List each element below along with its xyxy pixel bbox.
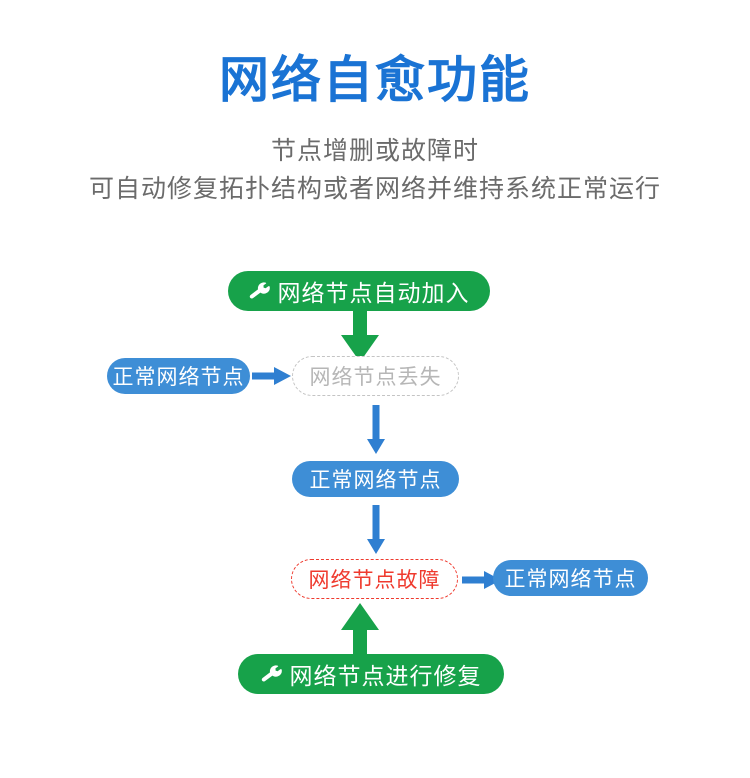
node-network-node-auto-join[interactable]: 网络节点自动加入 — [228, 271, 490, 311]
node-network-node-repair[interactable]: 网络节点进行修复 — [238, 654, 504, 694]
wrench-icon — [249, 280, 271, 302]
subtitle-line-2: 可自动修复拓扑结构或者网络并维持系统正常运行 — [0, 170, 750, 209]
node-label: 网络节点进行修复 — [290, 657, 482, 691]
page-title: 网络自愈功能 — [0, 52, 750, 110]
node-normal-network-node-left[interactable]: 正常网络节点 — [107, 358, 250, 394]
node-label: 网络节点自动加入 — [278, 274, 470, 308]
green-arrow-up — [340, 602, 380, 658]
subtitle-line-1: 节点增删或故障时 — [0, 132, 750, 171]
node-label: 网络节点故障 — [309, 564, 441, 594]
node-normal-network-node-middle[interactable]: 正常网络节点 — [292, 461, 459, 497]
node-label: 正常网络节点 — [113, 361, 245, 391]
node-label: 网络节点丢失 — [310, 361, 442, 391]
node-network-node-lost[interactable]: 网络节点丢失 — [292, 356, 459, 396]
node-normal-network-node-right[interactable]: 正常网络节点 — [493, 560, 648, 596]
blue-arrow-right-top — [252, 367, 292, 385]
node-label: 正常网络节点 — [505, 563, 637, 593]
node-network-node-fault[interactable]: 网络节点故障 — [291, 559, 458, 599]
page-header: 网络自愈功能 节点增删或故障时 可自动修复拓扑结构或者网络并维持系统正常运行 — [0, 0, 750, 209]
blue-arrow-down-lower — [366, 505, 386, 555]
node-label: 正常网络节点 — [310, 464, 442, 494]
network-self-healing-flow-diagram: 网络节点自动加入 正常网络节点 网络节点丢失 正常网络节点 网络节点故障 正常网… — [0, 271, 750, 731]
blue-arrow-down-upper — [366, 405, 386, 455]
page-subtitle: 节点增删或故障时 可自动修复拓扑结构或者网络并维持系统正常运行 — [0, 132, 750, 210]
wrench-icon — [261, 663, 283, 685]
